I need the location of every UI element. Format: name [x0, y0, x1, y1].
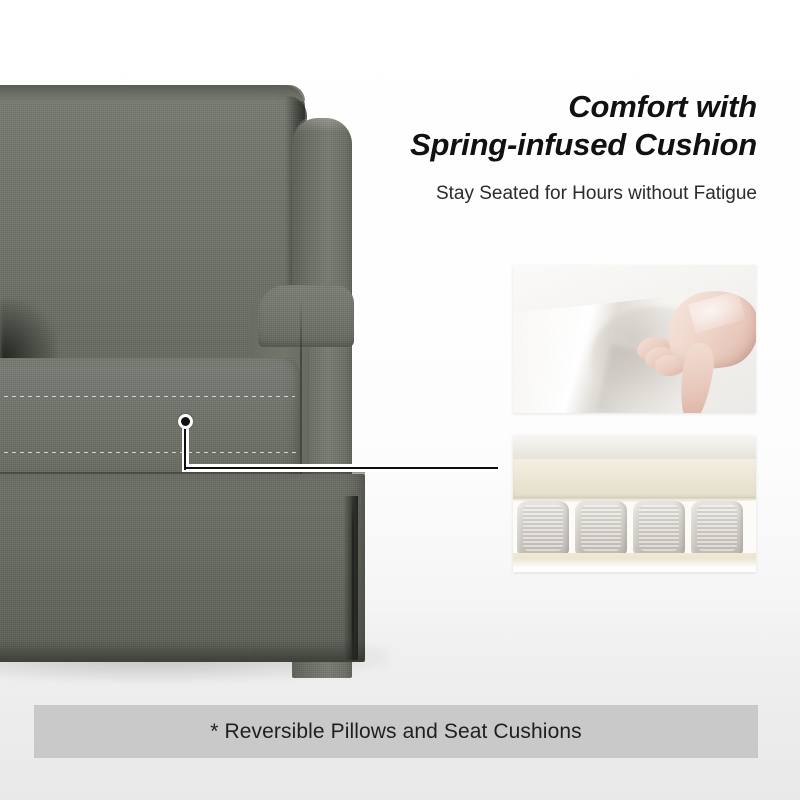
headline: Comfort with Spring-infused Cushion — [337, 88, 757, 164]
pocket-spring-coil — [517, 501, 569, 557]
panel-base-fade — [513, 558, 756, 572]
seat-cushion-stitch-upper — [0, 396, 295, 397]
pocket-spring-row — [513, 499, 756, 557]
footer-banner: * Reversible Pillows and Seat Cushions — [34, 705, 758, 758]
pocket-spring-coil — [575, 501, 627, 557]
fabric-grain-texture — [258, 285, 354, 347]
skirt-corner-fold — [344, 496, 358, 660]
footer-note: * Reversible Pillows and Seat Cushions — [210, 720, 581, 744]
foam-press-photo — [513, 265, 756, 413]
sofa-skirt — [0, 474, 365, 662]
pocket-spring-coil — [691, 501, 743, 557]
upper-foam-layer — [513, 459, 756, 499]
back-cushion-piping — [0, 85, 305, 101]
product-feature-image: Comfort with Spring-infused Cushion Stay… — [0, 0, 800, 800]
fabric-grain-texture — [0, 474, 365, 662]
headline-line-1: Comfort with — [337, 88, 757, 126]
top-fabric-layer — [513, 435, 756, 461]
seat-cushion-stitch-lower — [0, 452, 298, 453]
pocket-spring-coil — [633, 501, 685, 557]
skirt-bottom-shadow — [0, 640, 365, 662]
hand-pressing — [633, 285, 753, 413]
headline-line-2: Spring-infused Cushion — [337, 126, 757, 164]
sofa-seat-cushion — [0, 358, 300, 476]
skirt-fold-line — [352, 492, 354, 662]
pocket-spring-cross-section-photo — [513, 435, 756, 572]
subtitle: Stay Seated for Hours without Fatigue — [297, 182, 757, 206]
fabric-grain-texture — [0, 358, 300, 476]
sofa-armrest-front-roll — [258, 285, 354, 347]
